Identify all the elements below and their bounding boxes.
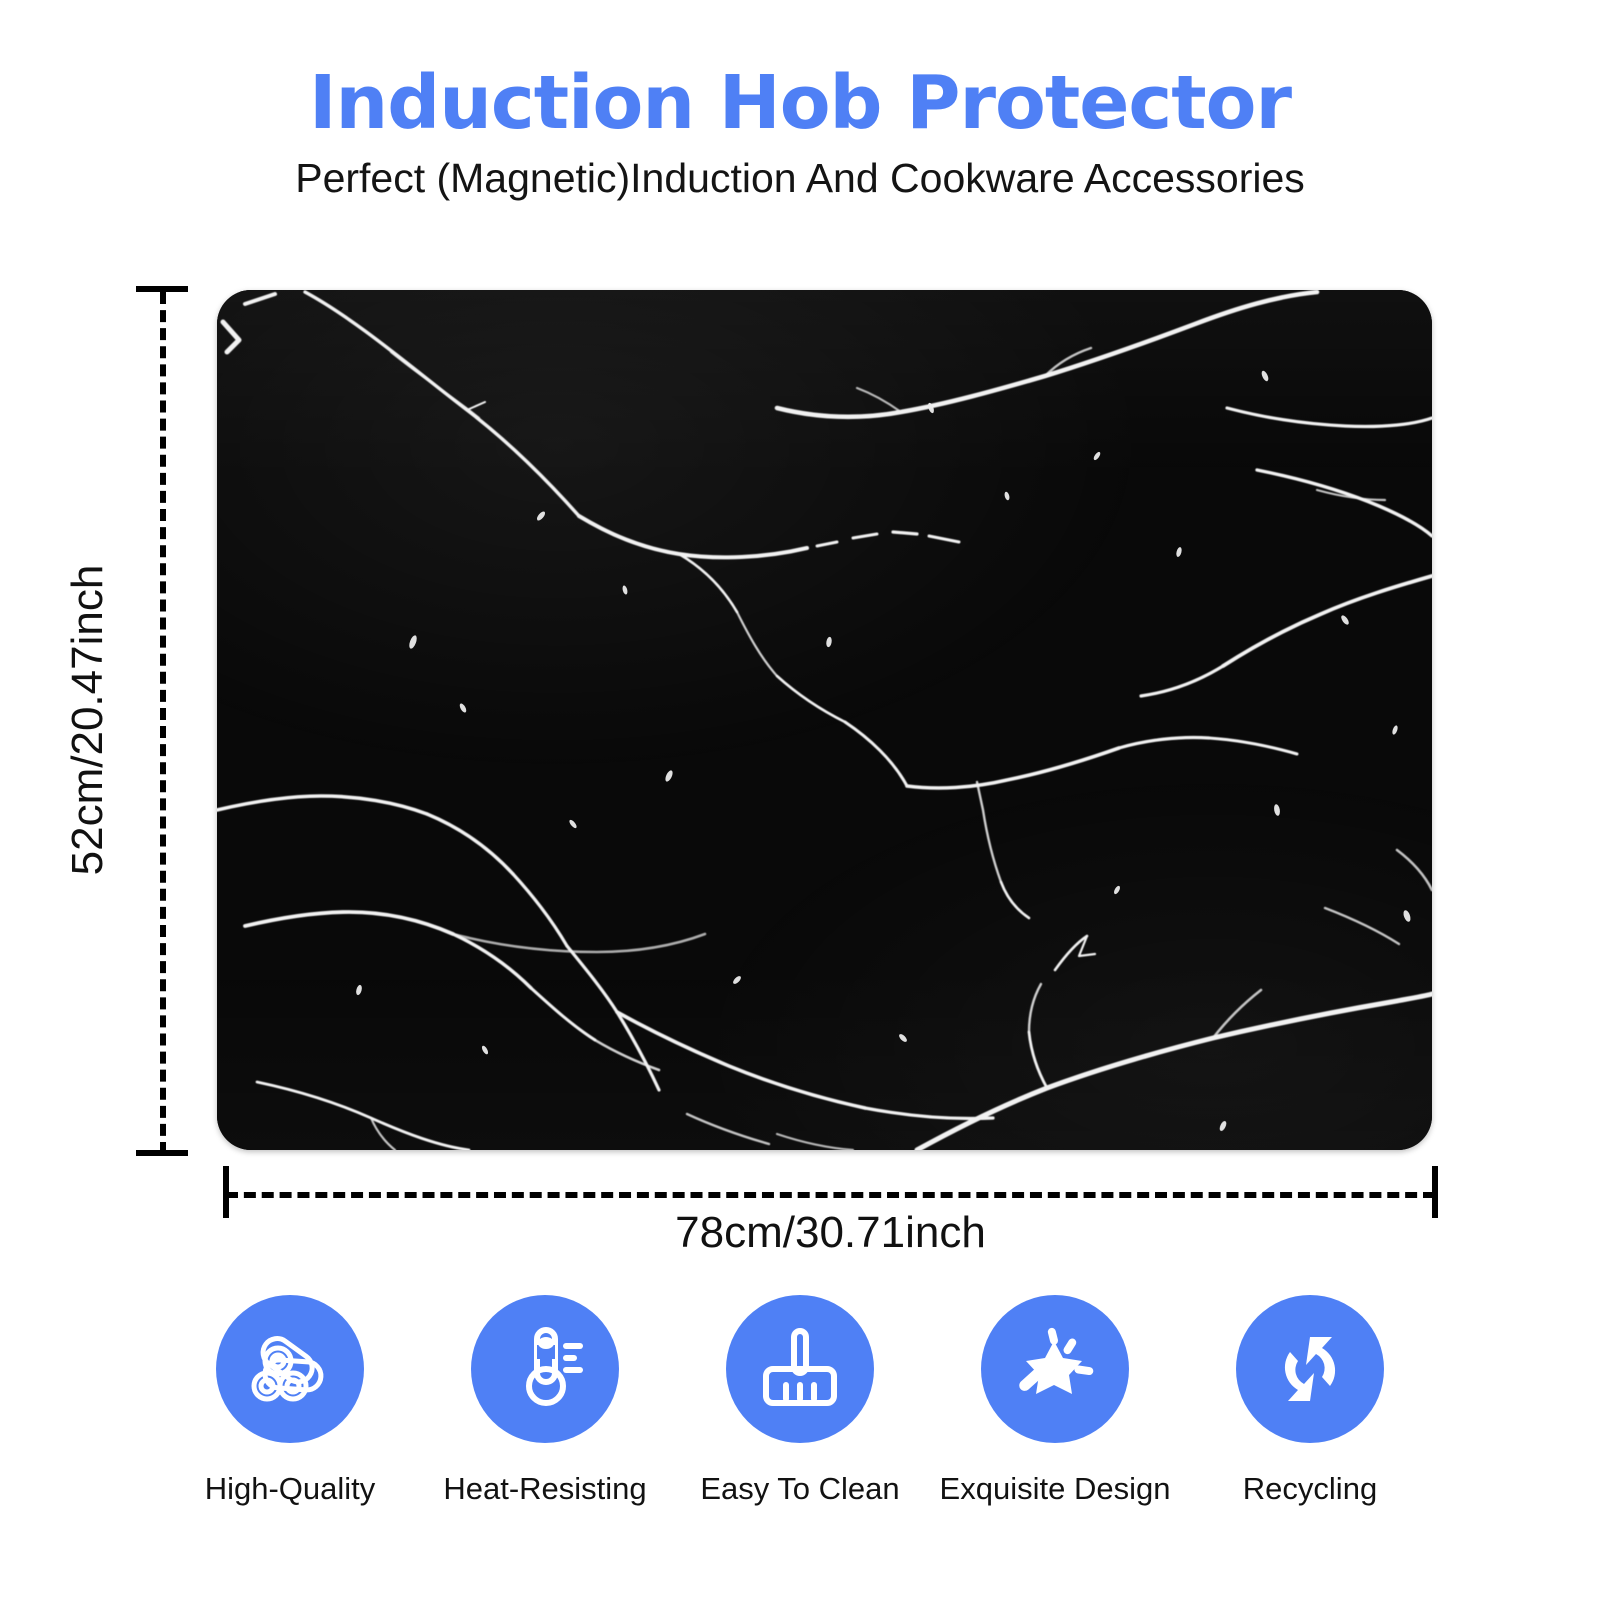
- feature-item-recycling: Recycling: [1190, 1295, 1430, 1507]
- width-dimension-line: [226, 1192, 1435, 1198]
- feature-label: Easy To Clean: [700, 1471, 899, 1507]
- marble-surface: [217, 290, 1432, 1150]
- recycle-arrows-icon: [1264, 1323, 1356, 1415]
- feature-label: Recycling: [1243, 1471, 1377, 1507]
- feature-label: Exquisite Design: [940, 1471, 1171, 1507]
- magic-wand-icon: [1009, 1323, 1101, 1415]
- feature-icon-badge: [1236, 1295, 1384, 1443]
- height-dimension-line: [160, 292, 166, 1154]
- product-image-mat: [217, 290, 1432, 1150]
- feature-icon-badge: [216, 1295, 364, 1443]
- thermometer-icon: [499, 1323, 591, 1415]
- height-dimension-label: 52cm/20.47inch: [58, 460, 118, 980]
- width-dimension-label: 78cm/30.71inch: [226, 1208, 1435, 1258]
- stacked-tubes-icon: [244, 1323, 336, 1415]
- feature-icon-badge: [471, 1295, 619, 1443]
- feature-item-high-quality: High-Quality: [170, 1295, 410, 1507]
- feature-row: High-Quality Heat-Resisting: [170, 1295, 1430, 1575]
- feature-icon-badge: [981, 1295, 1129, 1443]
- feature-icon-badge: [726, 1295, 874, 1443]
- product-dimension-stage: 52cm/20.47inch: [0, 0, 1600, 1290]
- feature-item-easy-to-clean: Easy To Clean: [680, 1295, 920, 1507]
- broom-icon: [754, 1323, 846, 1415]
- feature-label: Heat-Resisting: [443, 1471, 646, 1507]
- marble-veins-graphic: [217, 290, 1432, 1150]
- height-dimension-cap-bottom: [136, 1150, 188, 1156]
- feature-label: High-Quality: [205, 1471, 376, 1507]
- feature-item-exquisite-design: Exquisite Design: [935, 1295, 1175, 1507]
- feature-item-heat-resisting: Heat-Resisting: [425, 1295, 665, 1507]
